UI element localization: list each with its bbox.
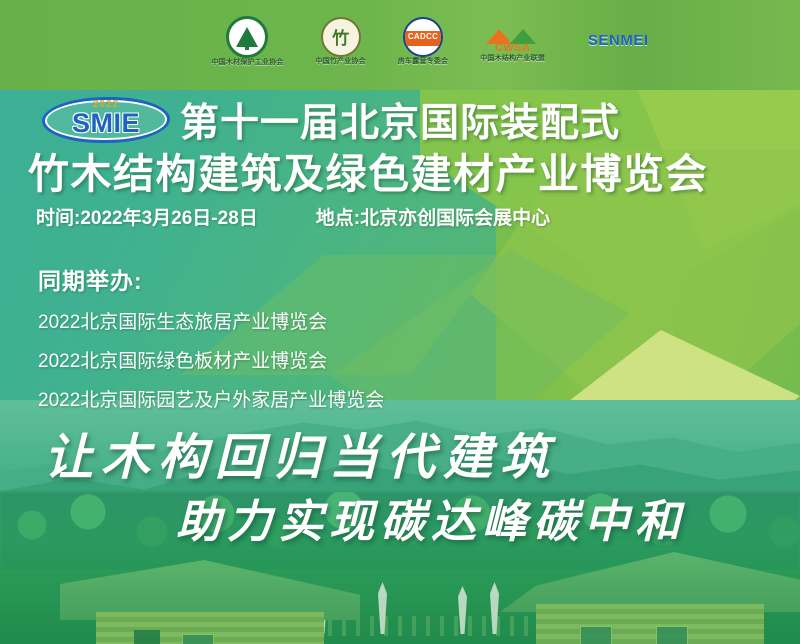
house-roof-icon: CWSA	[484, 20, 542, 54]
logo-china-wood-protection: 中国木材保护工业协会	[211, 16, 283, 67]
wooden-cabin-right	[500, 552, 800, 644]
logo-caption: 中国木材保护工业协会	[211, 59, 283, 67]
logo-caption: 房车露营专委会	[398, 58, 448, 66]
cabin-window	[182, 634, 214, 644]
slogan-line1: 让木构回归当代建筑	[44, 418, 557, 489]
cabin-door	[134, 630, 160, 644]
page-title-line2: 竹木结构建筑及绿色建材产业博览会	[28, 140, 708, 200]
event-date: 时间:2022年3月26日-28日	[36, 203, 258, 230]
cabin-window	[656, 626, 688, 644]
sponsor-logo-strip: 中国木材保护工业协会 竹 中国竹产业协会 CADCC 房车露营专委会	[0, 0, 800, 82]
logo-cwsa: CWSA 中国木结构产业联盟	[480, 20, 545, 63]
event-venue: 地点:北京亦创国际会展中心	[316, 203, 550, 230]
smie-wordmark: SMIE	[72, 108, 140, 139]
bamboo-glyph: 竹	[321, 17, 361, 57]
bamboo-seal-icon: 竹	[321, 17, 361, 57]
logo-bamboo-association: 竹 中国竹产业协会	[315, 17, 365, 66]
logo-cadcc: CADCC 房车露营专委会	[398, 17, 448, 66]
cwsa-acronym: CWSA	[484, 42, 542, 54]
tree-seal-icon	[226, 16, 268, 58]
cabin-wall	[536, 604, 764, 644]
concurrent-heading: 同期举办:	[38, 262, 384, 296]
cabin-wall	[96, 612, 324, 644]
cabin-roof	[500, 552, 800, 612]
concurrent-item: 2022北京国际绿色板材产业博览会	[38, 346, 384, 373]
logo-caption: 中国木结构产业联盟	[480, 55, 545, 63]
cabin-roof	[60, 560, 360, 620]
cadcc-seal-icon: CADCC	[403, 17, 443, 57]
concurrent-item: 2022北京国际生态旅居产业博览会	[38, 307, 384, 334]
leaf-icon: SENMEI	[577, 32, 649, 49]
exhibition-poster: 中国木材保护工业协会 竹 中国竹产业协会 CADCC 房车露营专委会	[0, 0, 800, 644]
logo-senmei: SENMEI	[577, 32, 649, 50]
wooden-cabin-left	[60, 560, 360, 644]
concurrent-item: 2022北京国际园艺及户外家居产业博览会	[38, 385, 384, 412]
event-meta: 时间:2022年3月26日-28日 地点:北京亦创国际会展中心	[36, 203, 550, 230]
slogan-line2: 助力实现碳达峰碳中和	[176, 485, 686, 550]
cadcc-acronym: CADCC	[408, 32, 438, 41]
smie-badge: 2022 SMIE	[42, 97, 170, 143]
senmei-wordmark: SENMEI	[588, 32, 649, 49]
logo-caption: 中国竹产业协会	[315, 58, 365, 66]
concurrent-events: 同期举办: 2022北京国际生态旅居产业博览会 2022北京国际绿色板材产业博览…	[38, 262, 384, 424]
cabin-window	[580, 626, 612, 644]
